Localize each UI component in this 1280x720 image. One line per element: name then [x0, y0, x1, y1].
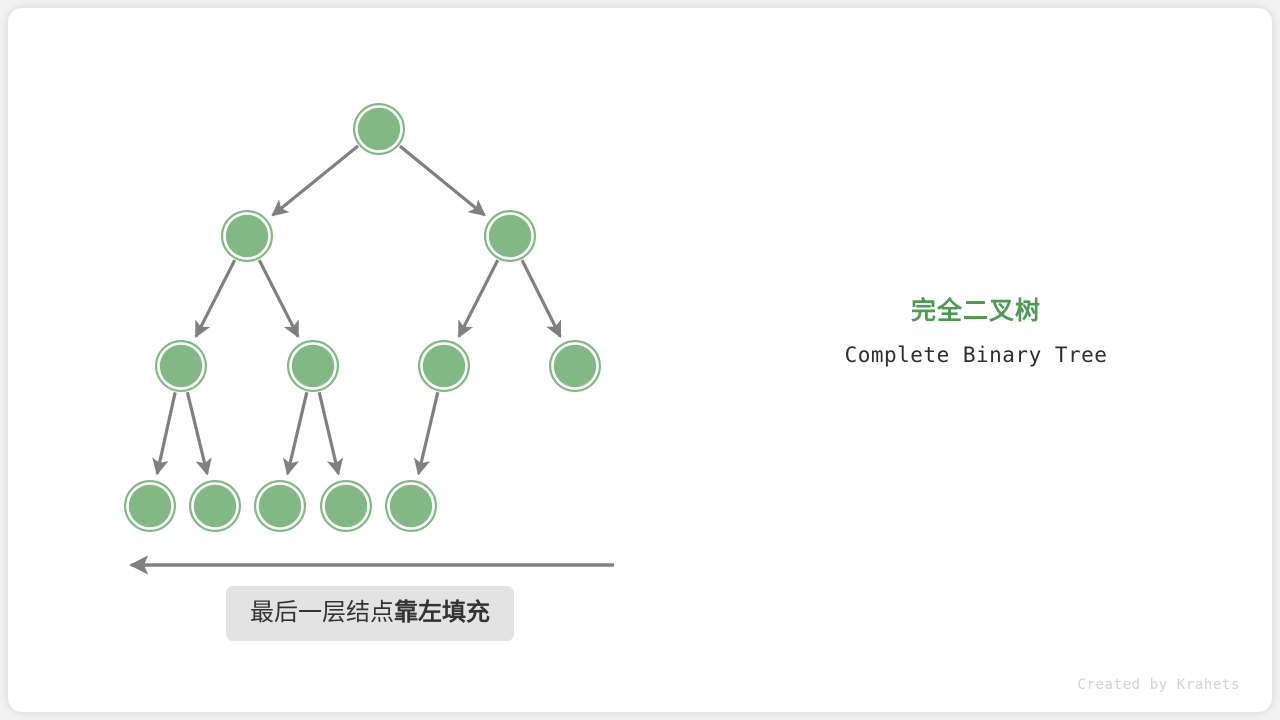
tree-node-fill: [358, 108, 400, 150]
tree-node-fill: [390, 485, 432, 527]
annotation-chip-text-normal: 最后一层结点: [250, 599, 394, 626]
tree-node: [321, 481, 371, 531]
tree-edge: [273, 146, 358, 215]
tree-edge: [157, 392, 175, 473]
tree-edge: [522, 260, 560, 336]
annotation-chip: 最后一层结点靠左填充: [226, 586, 514, 641]
tree-node: [156, 341, 206, 391]
tree-node-fill: [194, 485, 236, 527]
tree-edge: [419, 392, 438, 474]
tree-edge: [259, 260, 298, 336]
tree-edge: [196, 260, 235, 336]
tree-node-layer: [125, 104, 600, 531]
tree-node-fill: [423, 345, 465, 387]
tree-node: [485, 211, 535, 261]
tree-node-fill: [554, 345, 596, 387]
tree-node: [255, 481, 305, 531]
tree-node-fill: [292, 345, 334, 387]
tree-node: [386, 481, 436, 531]
tree-node: [419, 341, 469, 391]
tree-node-fill: [325, 485, 367, 527]
caption-block: 完全二叉树 Complete Binary Tree: [828, 296, 1124, 368]
tree-node-fill: [160, 345, 202, 387]
tree-node: [550, 341, 600, 391]
credit-text: Created by Krahets: [1068, 677, 1240, 693]
tree-node: [190, 481, 240, 531]
tree-node: [222, 211, 272, 261]
annotation-chip-text-strong: 靠左填充: [394, 599, 490, 626]
screenshot-root: 完全二叉树 Complete Binary Tree 最后一层结点靠左填充 Cr…: [0, 0, 1280, 720]
tree-node-fill: [226, 215, 268, 257]
diagram-card: 完全二叉树 Complete Binary Tree 最后一层结点靠左填充 Cr…: [8, 8, 1272, 712]
tree-edge: [459, 260, 498, 336]
tree-edge-layer: [157, 146, 560, 474]
tree-node: [125, 481, 175, 531]
tree-edge: [319, 392, 338, 474]
tree-node-fill: [129, 485, 171, 527]
caption-title: 完全二叉树: [828, 296, 1124, 326]
tree-node: [354, 104, 404, 154]
tree-edge: [288, 392, 307, 474]
tree-node-fill: [259, 485, 301, 527]
tree-edge: [187, 392, 207, 474]
tree-node: [288, 341, 338, 391]
caption-subtitle: Complete Binary Tree: [828, 342, 1124, 368]
tree-edge: [400, 146, 485, 215]
tree-node-fill: [489, 215, 531, 257]
